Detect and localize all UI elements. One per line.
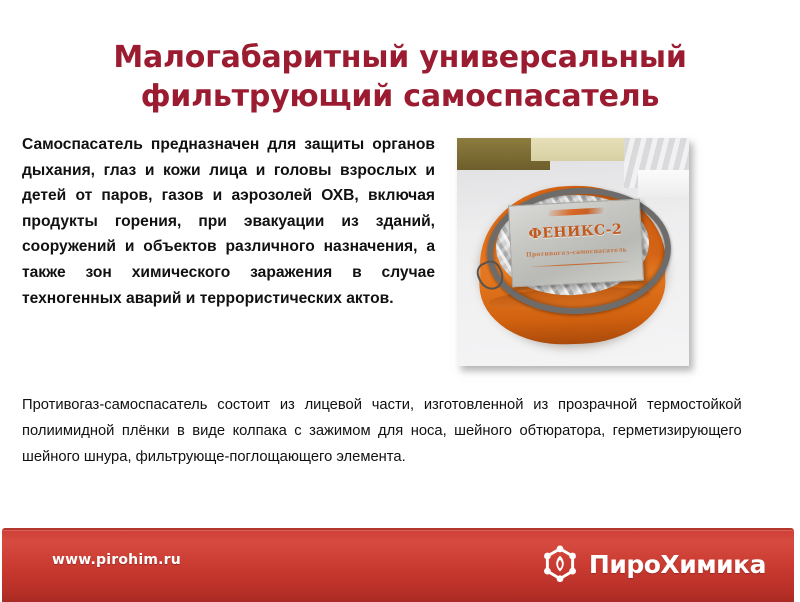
photo-desk-edge-light <box>531 138 633 161</box>
photo-product-label: ФЕНИКС-2 Противогаз-самоспасатель <box>508 198 644 287</box>
company-logo[interactable]: ПироХимика <box>539 543 766 585</box>
label-accent-stripe <box>548 208 603 217</box>
description-paragraph-2: Противогаз-самоспасатель состоит из лице… <box>22 392 742 469</box>
description-paragraph-1: Самоспасатель предназначен для защиты ор… <box>22 132 435 311</box>
hexagon-flame-icon <box>539 543 581 585</box>
product-photo: ФЕНИКС-2 Противогаз-самоспасатель <box>457 138 689 366</box>
label-underline <box>531 261 630 268</box>
product-photo-image: ФЕНИКС-2 Противогаз-самоспасатель <box>457 138 689 366</box>
page-title-line-2: фильтрующий самоспасатель <box>40 77 760 116</box>
company-logo-text: ПироХимика <box>589 552 766 577</box>
footer-bar: www.pirohim.ru <box>2 528 794 602</box>
website-url[interactable]: www.pirohim.ru <box>52 552 181 568</box>
slide-canvas: Малогабаритный универсальный фильтрующий… <box>0 0 800 600</box>
page-title-line-1: Малогабаритный универсальный <box>40 38 760 77</box>
label-brand-name: ФЕНИКС-2 <box>510 220 641 243</box>
label-subtitle: Противогаз-самоспасатель <box>512 246 642 260</box>
page-title: Малогабаритный универсальный фильтрующий… <box>40 38 760 116</box>
